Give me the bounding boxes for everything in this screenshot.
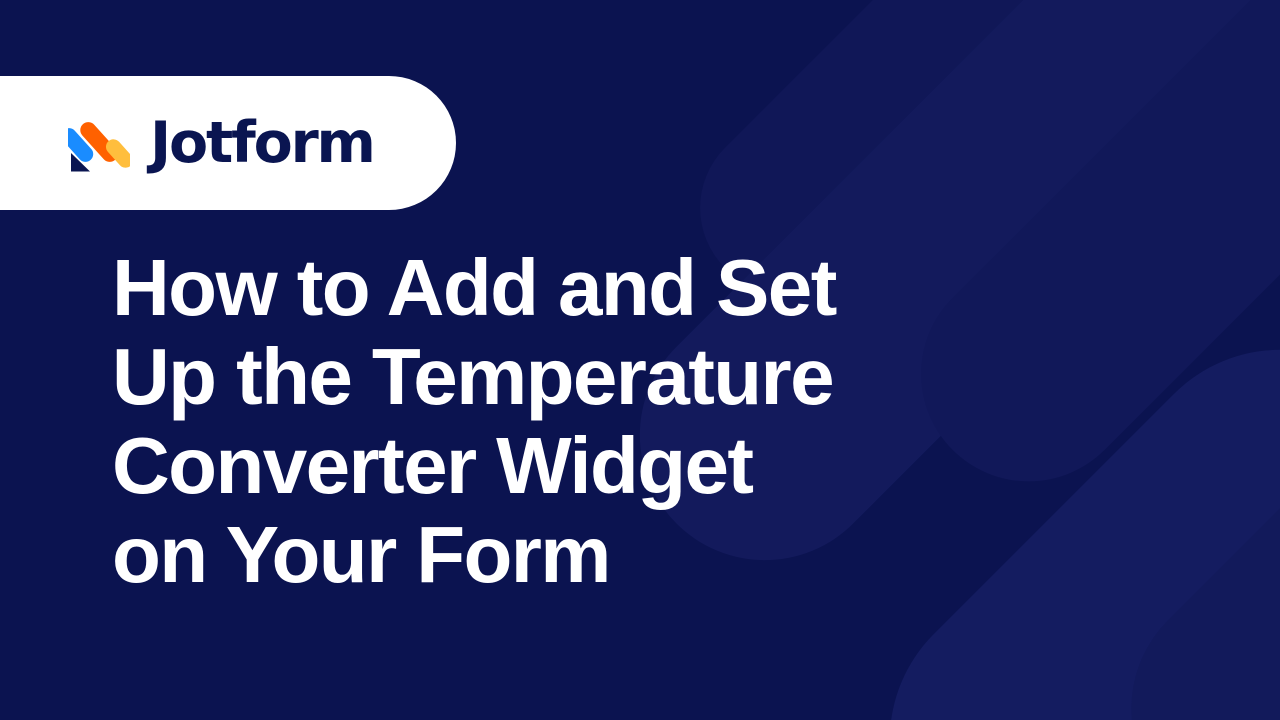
slide-title: How to Add and Set Up the Temperature Co… — [112, 243, 872, 599]
title-slide: Jotform How to Add and Set Up the Temper… — [0, 0, 1280, 720]
jotform-logo-mark-icon — [68, 112, 130, 174]
decorative-capsule-shape — [877, 0, 1280, 526]
title-line-1: How to Add and Set — [112, 243, 872, 332]
decorative-capsule-shape — [828, 288, 1280, 720]
jotform-wordmark: Jotform — [150, 115, 374, 172]
decorative-capsule-shape — [1080, 405, 1280, 720]
title-line-2: Up the Temperature — [112, 332, 872, 421]
brand-logo-pill: Jotform — [0, 76, 456, 210]
title-line-4: on Your Form — [112, 510, 872, 599]
title-line-3: Converter Widget — [112, 421, 872, 510]
